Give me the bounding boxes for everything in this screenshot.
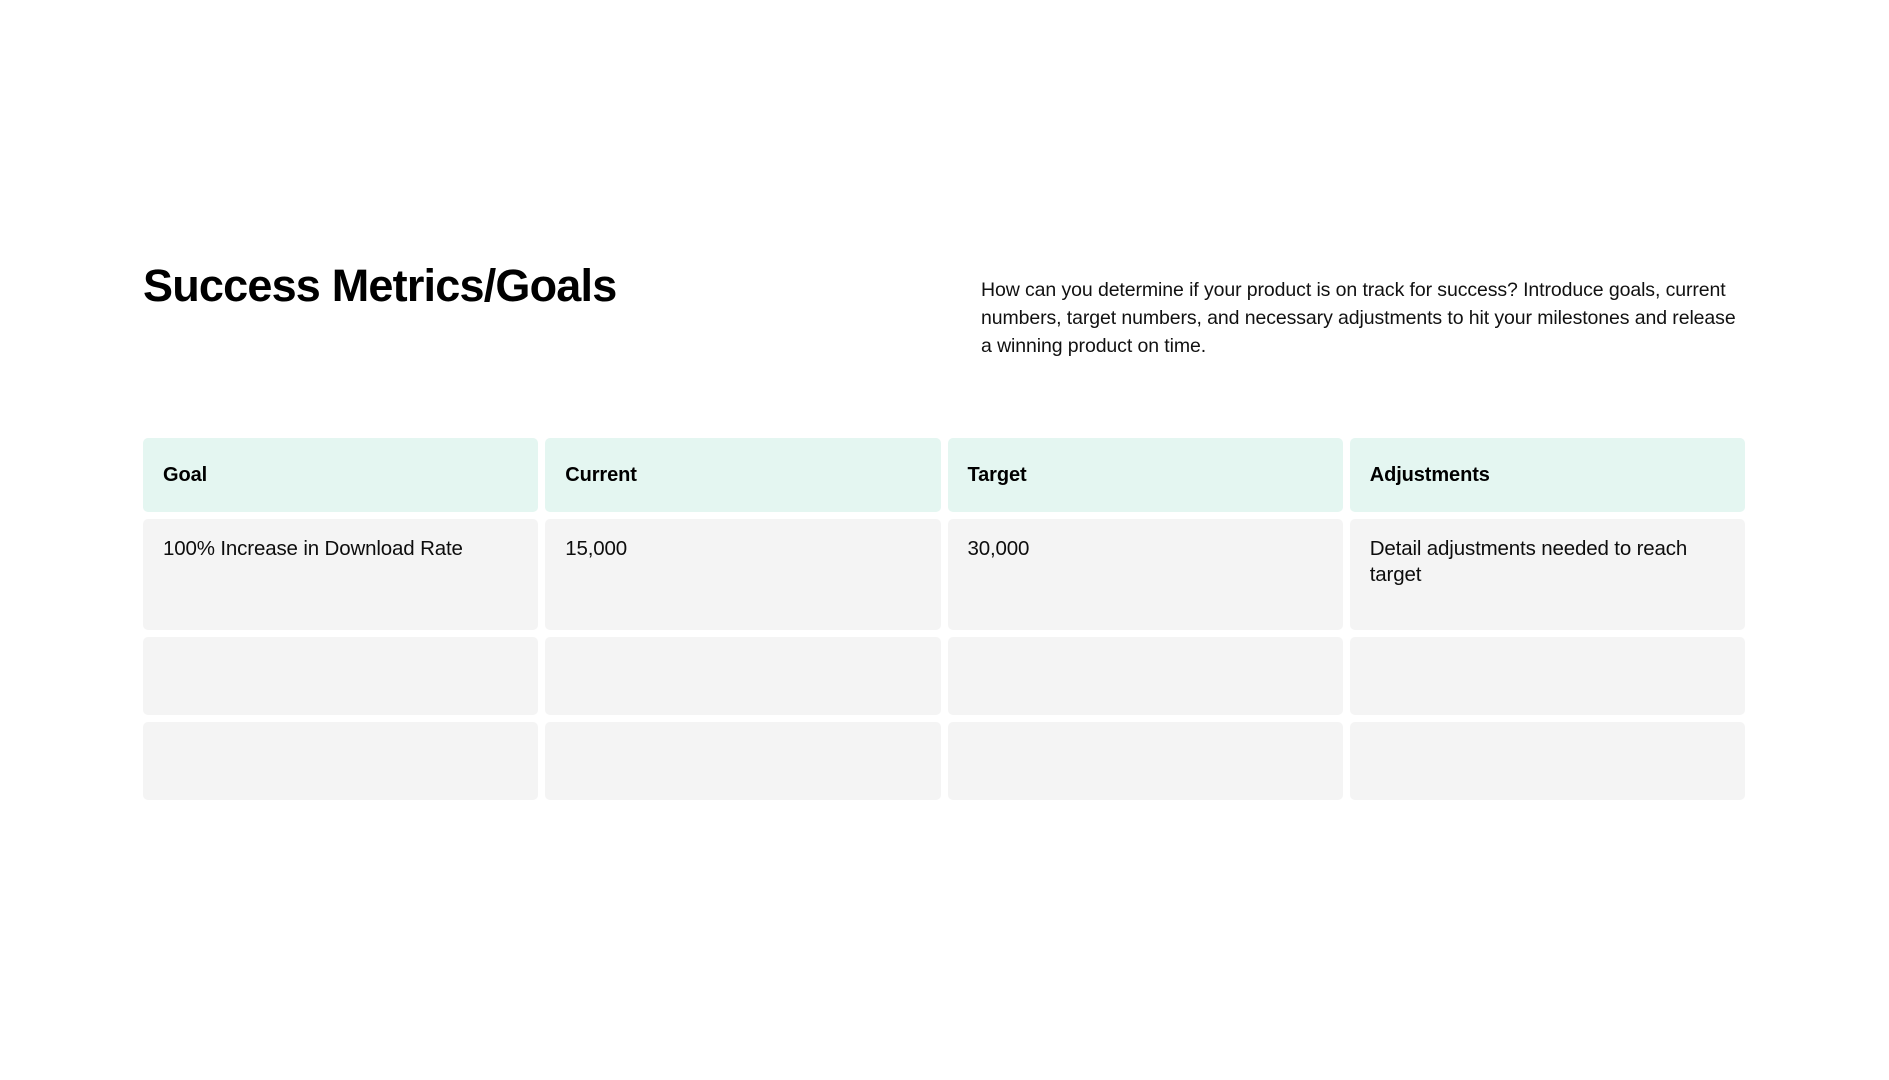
slide-canvas: Success Metrics/Goals How can you determ…: [0, 0, 1889, 1080]
description-column: How can you determine if your product is…: [981, 262, 1745, 360]
column-header-label: Target: [968, 464, 1027, 487]
table-cell-current[interactable]: [545, 722, 940, 800]
table-header-cell-goal: Goal: [143, 438, 538, 512]
cell-value: 30,000: [968, 536, 1030, 562]
table-header-row: Goal Current Target Adjustments: [143, 438, 1745, 512]
table-header-cell-current: Current: [545, 438, 940, 512]
title-column: Success Metrics/Goals: [143, 262, 981, 311]
table-cell-target[interactable]: [948, 637, 1343, 715]
table-cell-adjustments[interactable]: Detail adjustments needed to reach targe…: [1350, 519, 1745, 630]
table-cell-target[interactable]: [948, 722, 1343, 800]
page-description: How can you determine if your product is…: [981, 276, 1745, 360]
table-cell-target[interactable]: 30,000: [948, 519, 1343, 630]
table-cell-goal[interactable]: [143, 722, 538, 800]
table-header-cell-target: Target: [948, 438, 1343, 512]
table-row: [143, 637, 1745, 715]
table-header-cell-adjustments: Adjustments: [1350, 438, 1745, 512]
column-header-label: Adjustments: [1370, 464, 1490, 487]
cell-value: 100% Increase in Download Rate: [163, 536, 463, 562]
column-header-label: Current: [565, 464, 637, 487]
cell-value: Detail adjustments needed to reach targe…: [1370, 536, 1725, 588]
table-cell-goal[interactable]: [143, 637, 538, 715]
cell-value: 15,000: [565, 536, 627, 562]
column-header-label: Goal: [163, 464, 207, 487]
table-cell-goal[interactable]: 100% Increase in Download Rate: [143, 519, 538, 630]
table-cell-adjustments[interactable]: [1350, 637, 1745, 715]
page-title: Success Metrics/Goals: [143, 262, 981, 311]
slide-header: Success Metrics/Goals How can you determ…: [143, 262, 1745, 360]
table-cell-current[interactable]: 15,000: [545, 519, 940, 630]
table-cell-current[interactable]: [545, 637, 940, 715]
table-row: [143, 722, 1745, 800]
table-cell-adjustments[interactable]: [1350, 722, 1745, 800]
success-metrics-table: Goal Current Target Adjustments 100% Inc…: [143, 438, 1745, 800]
table-row: 100% Increase in Download Rate 15,000 30…: [143, 519, 1745, 630]
